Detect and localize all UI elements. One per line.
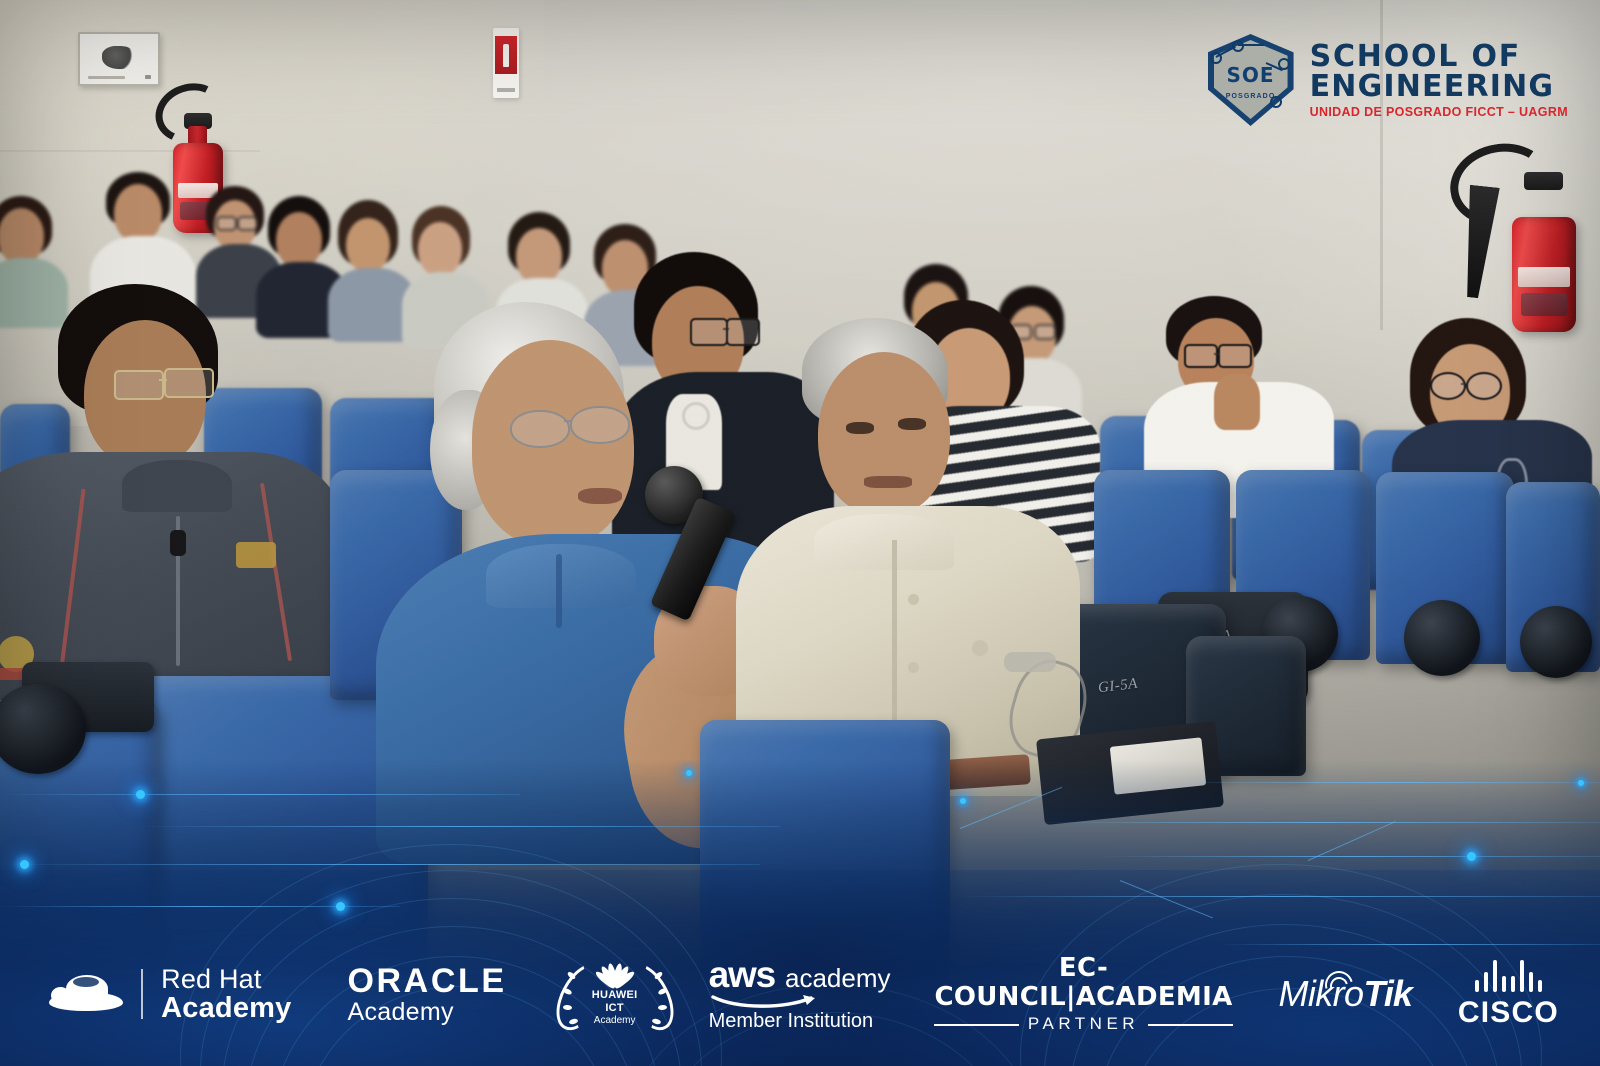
co2-cylinder <box>1512 217 1576 332</box>
soe-line2: ENGINEERING <box>1310 72 1568 102</box>
red-hat-line2: Academy <box>161 993 291 1023</box>
soe-line1: SCHOOL OF <box>1310 42 1568 72</box>
ec-rule-right <box>1148 1024 1232 1026</box>
aws-line2: academy <box>785 965 891 992</box>
sponsor-logo-row: Red Hat Academy ORACLE Academy <box>0 948 1600 1040</box>
sponsor-red-hat-academy: Red Hat Academy <box>49 965 291 1023</box>
co2-label-lower <box>1521 293 1567 316</box>
sponsor-cisco: CISCO <box>1458 958 1559 1030</box>
mikrotik-part2: Tik <box>1363 973 1411 1015</box>
cisco-wordmark: CISCO <box>1458 996 1559 1030</box>
sponsor-banner: Red Hat Academy ORACLE Academy <box>0 760 1600 1066</box>
sign-extinguisher-glyph <box>503 44 509 67</box>
aws-line1: aws <box>709 956 775 995</box>
soe-wordmark: SCHOOL OF ENGINEERING UNIDAD DE POSGRADO… <box>1310 42 1568 119</box>
sign-caption <box>497 88 516 92</box>
glow-node <box>1467 852 1476 861</box>
co2-valve <box>1524 172 1564 190</box>
seat-armrest-round <box>1404 600 1480 676</box>
circuit-trace <box>1238 44 1264 46</box>
oracle-line1: ORACLE <box>347 963 506 999</box>
huawei-petal-icon <box>589 962 641 987</box>
seat-armrest-round <box>1520 606 1592 678</box>
red-hat-fedora-icon <box>49 971 123 1017</box>
soe-shield-icon: SOE POSGRADO <box>1208 34 1294 126</box>
glow-node <box>1578 780 1584 786</box>
notice-sign-text-line <box>88 76 125 80</box>
huawei-line2: ICT <box>605 1002 624 1015</box>
soe-line3: UNIDAD DE POSGRADO FICCT – UAGRM <box>1310 106 1568 119</box>
red-hat-line1: Red Hat <box>161 965 291 993</box>
huawei-line3: Academy <box>594 1015 636 1027</box>
sponsor-aws-academy: aws academy Member Institution <box>709 956 891 1033</box>
glow-node <box>136 790 145 799</box>
glow-node <box>686 770 692 776</box>
co2-fire-extinguisher <box>1512 172 1576 332</box>
sponsor-oracle-academy: ORACLE Academy <box>347 963 506 1026</box>
glow-node <box>20 860 29 869</box>
notice-sign-badge <box>145 75 151 80</box>
school-of-engineering-logo: SOE POSGRADO SCHOOL OF ENGINEERING UNIDA… <box>1208 34 1568 126</box>
wristwatch <box>1004 652 1056 672</box>
photo-canvas: A GI-5A <box>0 0 1600 1066</box>
fire-extinguisher-sign <box>493 28 519 98</box>
aws-line3: Member Institution <box>709 1011 891 1032</box>
sponsor-huawei-ict-academy: HUAWEI ICT Academy <box>559 951 671 1037</box>
co2-label <box>1518 267 1569 287</box>
sign-red-field <box>495 36 517 74</box>
soe-shield-subtitle: POSGRADO <box>1226 93 1276 100</box>
ec-rule-left <box>934 1024 1018 1026</box>
logo-divider <box>141 969 143 1019</box>
glow-node <box>336 902 345 911</box>
ec-council-line1: EC-COUNCIL|ACADEMIA <box>934 954 1232 1011</box>
oracle-line2: Academy <box>347 999 506 1026</box>
notice-sign-glyph <box>102 46 136 69</box>
glow-node <box>960 798 966 804</box>
cisco-bridge-icon <box>1458 958 1559 992</box>
wall-notice-sign <box>78 32 160 86</box>
sponsor-mikrotik: Mikro Tik <box>1278 973 1411 1015</box>
sponsor-ec-council-academia: EC-COUNCIL|ACADEMIA PARTNER <box>934 954 1232 1034</box>
circuit-node-icon <box>1270 96 1282 108</box>
ec-council-line2: PARTNER <box>1028 1015 1139 1034</box>
soe-monogram: SOE <box>1227 63 1275 87</box>
aws-smile-icon <box>711 995 823 1008</box>
